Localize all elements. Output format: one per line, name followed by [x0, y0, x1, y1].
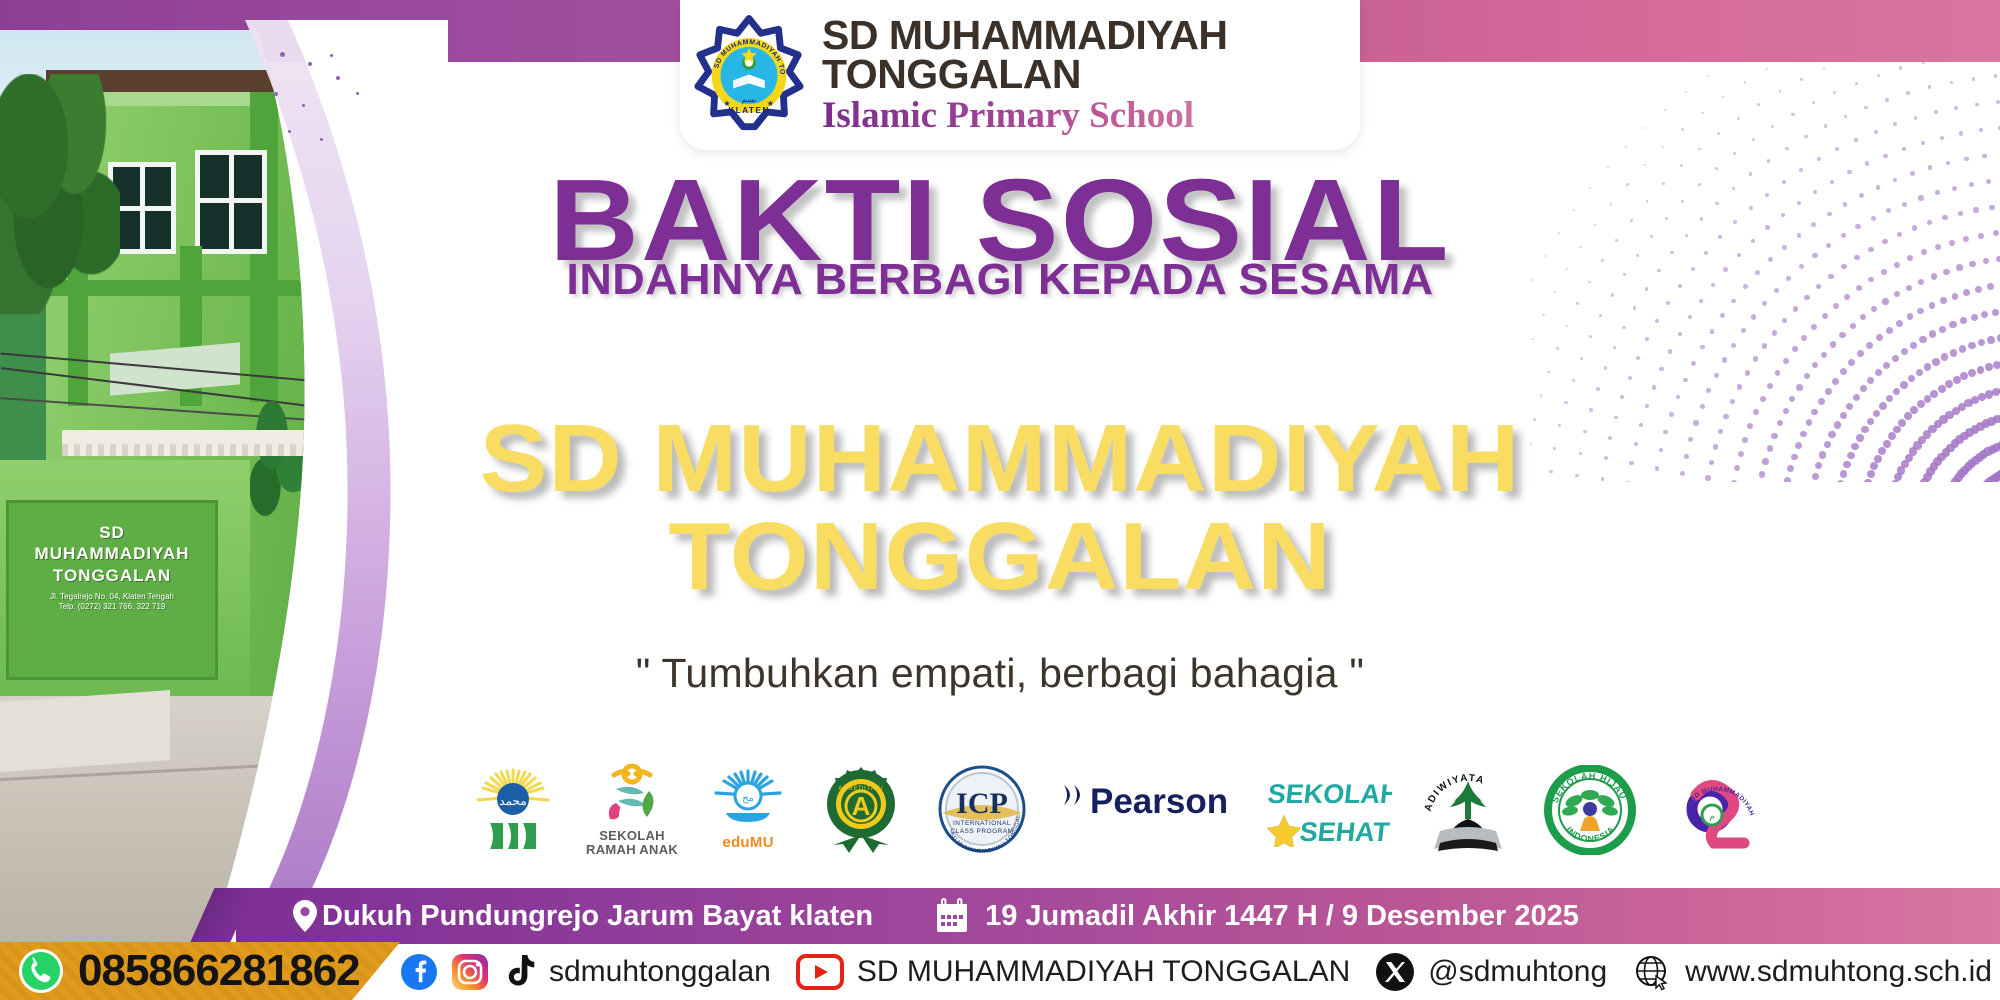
- youtube-icon[interactable]: [796, 953, 844, 991]
- svg-text:A: A: [852, 791, 871, 821]
- location-text: Dukuh Pundungrejo Jarum Bayat klaten: [322, 900, 873, 933]
- event-tagline: " Tumbuhkan empati, berbagi bahagia ": [0, 650, 2000, 697]
- social-handle: sdmuhtonggalan: [549, 955, 771, 989]
- svg-text:SEHAT: SEHAT: [1298, 816, 1391, 847]
- svg-text:ADIWIYATA: ADIWIYATA: [1423, 773, 1487, 813]
- map-pin-icon: [292, 899, 318, 933]
- adiwiyata-logo: ADIWIYATA: [1422, 760, 1514, 860]
- header-school-subtitle: Islamic Primary School: [822, 95, 1228, 136]
- sekolah-sehat-logo: SEKOLAH SEHAT: [1262, 760, 1392, 860]
- whatsapp-icon: [18, 948, 64, 994]
- whatsapp-contact-banner[interactable]: 085866281862: [0, 942, 400, 1000]
- event-info-bar: Dukuh Pundungrejo Jarum Bayat klaten: [236, 888, 2000, 944]
- edumu-caption: eduMU: [722, 835, 774, 851]
- sekolah-ramah-anak-caption: SEKOLAHRAMAH ANAK: [586, 829, 678, 857]
- school-title: SD MUHAMMADIYAH TONGGALAN: [0, 410, 2000, 606]
- school-title-line1: SD MUHAMMADIYAH: [0, 410, 2000, 508]
- sekolah-hijau-indonesia-logo: SEKOLAH HIJAU INDONESIA: [1544, 760, 1636, 860]
- akreditasi-a-logo: A AKREDITASI: [818, 760, 904, 860]
- facebook-icon[interactable]: [400, 953, 438, 991]
- globe-icon[interactable]: [1632, 952, 1672, 992]
- anniversary-62-logo: م SD MUHAMMADIYAH TONGGALAN: [1666, 760, 1766, 860]
- svg-text:Pearson: Pearson: [1090, 782, 1228, 821]
- svg-text:KLATEN: KLATEN: [728, 104, 769, 114]
- header-school-name-line1: SD MUHAMMADIYAH: [822, 16, 1228, 56]
- youtube-channel-name: SD MUHAMMADIYAH TONGGALAN: [857, 955, 1350, 989]
- x-twitter-icon[interactable]: [1375, 952, 1415, 992]
- whatsapp-number: 085866281862: [78, 946, 360, 996]
- svg-text:م: م: [1709, 811, 1715, 822]
- bakti-sosial-banner: SDMUHAMMADIYAHTONGGALAN Jl. Tegalrejo No…: [0, 0, 2000, 1000]
- website-url: www.sdmuhtong.sch.id: [1685, 955, 1992, 989]
- svg-text:محمد: محمد: [499, 794, 526, 808]
- svg-text:SEKOLAH: SEKOLAH: [1266, 778, 1392, 809]
- partner-logos-row: محمد SEKOLAHRAMAH ANAK: [470, 760, 1870, 860]
- school-title-line2: TONGGALAN: [0, 508, 2000, 606]
- divider-dot-accents: [268, 46, 388, 166]
- sekolah-ramah-anak-logo: SEKOLAHRAMAH ANAK: [586, 760, 678, 860]
- pearson-logo: Pearson Pearson: [1060, 760, 1232, 860]
- header-school-name-line2: TONGGALAN: [822, 55, 1228, 95]
- calendar-icon: [935, 898, 969, 934]
- svg-text:AKREDITASI: AKREDITASI: [838, 786, 883, 792]
- edumu-logo: مح eduMU: [708, 760, 788, 860]
- svg-text:ICP: ICP: [956, 787, 1008, 820]
- tiktok-icon[interactable]: [502, 953, 536, 991]
- date-text: 19 Jumadil Akhir 1447 H / 9 Desember 202…: [985, 900, 1579, 933]
- svg-text:INTERNATIONAL: INTERNATIONAL: [953, 820, 1011, 827]
- event-date: 19 Jumadil Akhir 1447 H / 9 Desember 202…: [935, 898, 1579, 934]
- icp-logo: ICP INTERNATIONAL CLASS PROGRAM SD MUHAM…: [934, 760, 1030, 860]
- event-subtitle: INDAHNYA BERBAGI KEPADA SESAMA: [0, 258, 2000, 302]
- svg-text:CLASS PROGRAM: CLASS PROGRAM: [950, 828, 1013, 835]
- school-header-card: . بسم ★ ★ KLATEN SD MUHAMMADIYAH TONGGAL…: [680, 0, 1360, 150]
- footer-social-row: sdmuhtonggalan SD MUHAMMADIYAH TONGGALAN…: [400, 944, 1992, 1000]
- svg-text:بسم: بسم: [742, 95, 756, 104]
- svg-text:مح: مح: [742, 793, 754, 804]
- x-handle: @sdmuhtong: [1428, 955, 1607, 989]
- school-crest-icon: . بسم ★ ★ KLATEN SD MUHAMMADIYAH TONGGAL…: [690, 15, 808, 140]
- event-location: Dukuh Pundungrejo Jarum Bayat klaten: [292, 899, 873, 933]
- muhammadiyah-sun-logo: محمد: [470, 760, 556, 860]
- instagram-icon[interactable]: [451, 953, 489, 991]
